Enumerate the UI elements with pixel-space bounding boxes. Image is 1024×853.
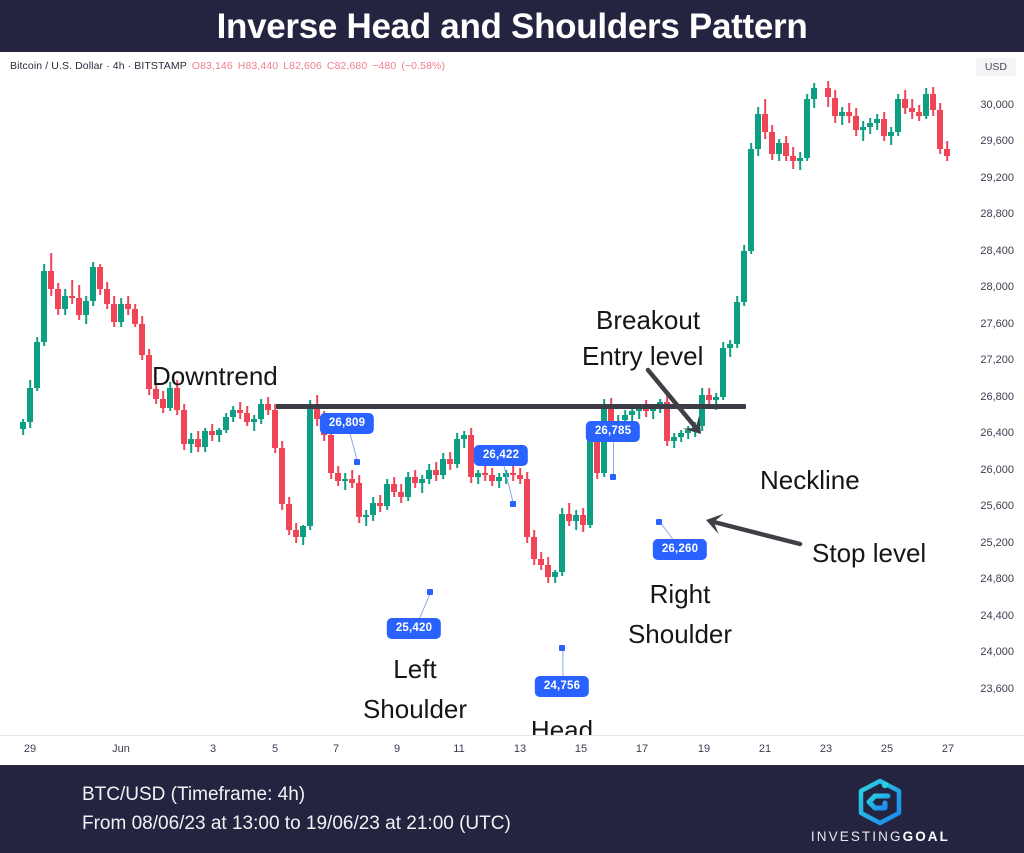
investinggoal-mark-icon [852,777,908,827]
time-tick: 13 [514,743,526,755]
time-tick: 11 [453,743,464,755]
price-tick: 30,000 [980,99,1014,111]
price-tick: 28,800 [980,208,1014,220]
price-tick: 23,600 [980,683,1014,695]
price-tick: 24,400 [980,610,1014,622]
time-tick: 15 [575,743,587,755]
price-tick: 26,000 [980,464,1014,476]
price-axis: 30,00029,60029,20028,80028,40028,00027,6… [960,52,1024,737]
price-tick: 29,200 [980,172,1014,184]
price-tick: 28,400 [980,245,1014,257]
brand-text-light: INVESTING [811,829,903,844]
brand-wordmark: INVESTINGGOAL [811,829,950,844]
candlestick-plot: 26,80926,42226,78525,42024,75626,260Down… [0,52,960,735]
time-tick: 29 [24,743,36,755]
price-tick: 27,200 [980,354,1014,366]
time-tick: 27 [942,743,954,755]
price-tick: 26,400 [980,427,1014,439]
time-axis: 29Jun3579111315171921232527 [0,735,1024,765]
time-tick: 7 [333,743,339,755]
time-tick: 17 [636,743,648,755]
price-tick: 25,600 [980,500,1014,512]
footer-bar: BTC/USD (Timeframe: 4h) From 08/06/23 at… [0,765,1024,853]
page-title: Inverse Head and Shoulders Pattern [217,9,808,44]
price-tick: 28,000 [980,281,1014,293]
footer-line-2: From 08/06/23 at 13:00 to 19/06/23 at 21… [82,810,511,839]
time-tick: 19 [698,743,710,755]
footer-caption: BTC/USD (Timeframe: 4h) From 08/06/23 at… [82,781,511,839]
brand-logo: INVESTINGGOAL [811,777,950,844]
title-bar: Inverse Head and Shoulders Pattern [0,0,1024,52]
stop-level-arrow [0,52,960,735]
price-tick: 29,600 [980,135,1014,147]
footer-line-1: BTC/USD (Timeframe: 4h) [82,781,511,810]
time-tick: 23 [820,743,832,755]
price-tick: 27,600 [980,318,1014,330]
price-tick: 25,200 [980,537,1014,549]
price-tick: 26,800 [980,391,1014,403]
chart-panel: Bitcoin / U.S. Dollar · 4h · BITSTAMPO83… [0,52,1024,765]
time-tick: 21 [759,743,771,755]
time-tick: 3 [210,743,216,755]
time-tick: 9 [394,743,400,755]
time-tick: 25 [881,743,893,755]
price-tick: 24,800 [980,573,1014,585]
brand-text-bold: GOAL [903,829,950,844]
time-tick: 5 [272,743,278,755]
time-tick: Jun [112,743,130,755]
screenshot-root: Inverse Head and Shoulders Pattern Bitco… [0,0,1024,853]
price-tick: 24,000 [980,646,1014,658]
